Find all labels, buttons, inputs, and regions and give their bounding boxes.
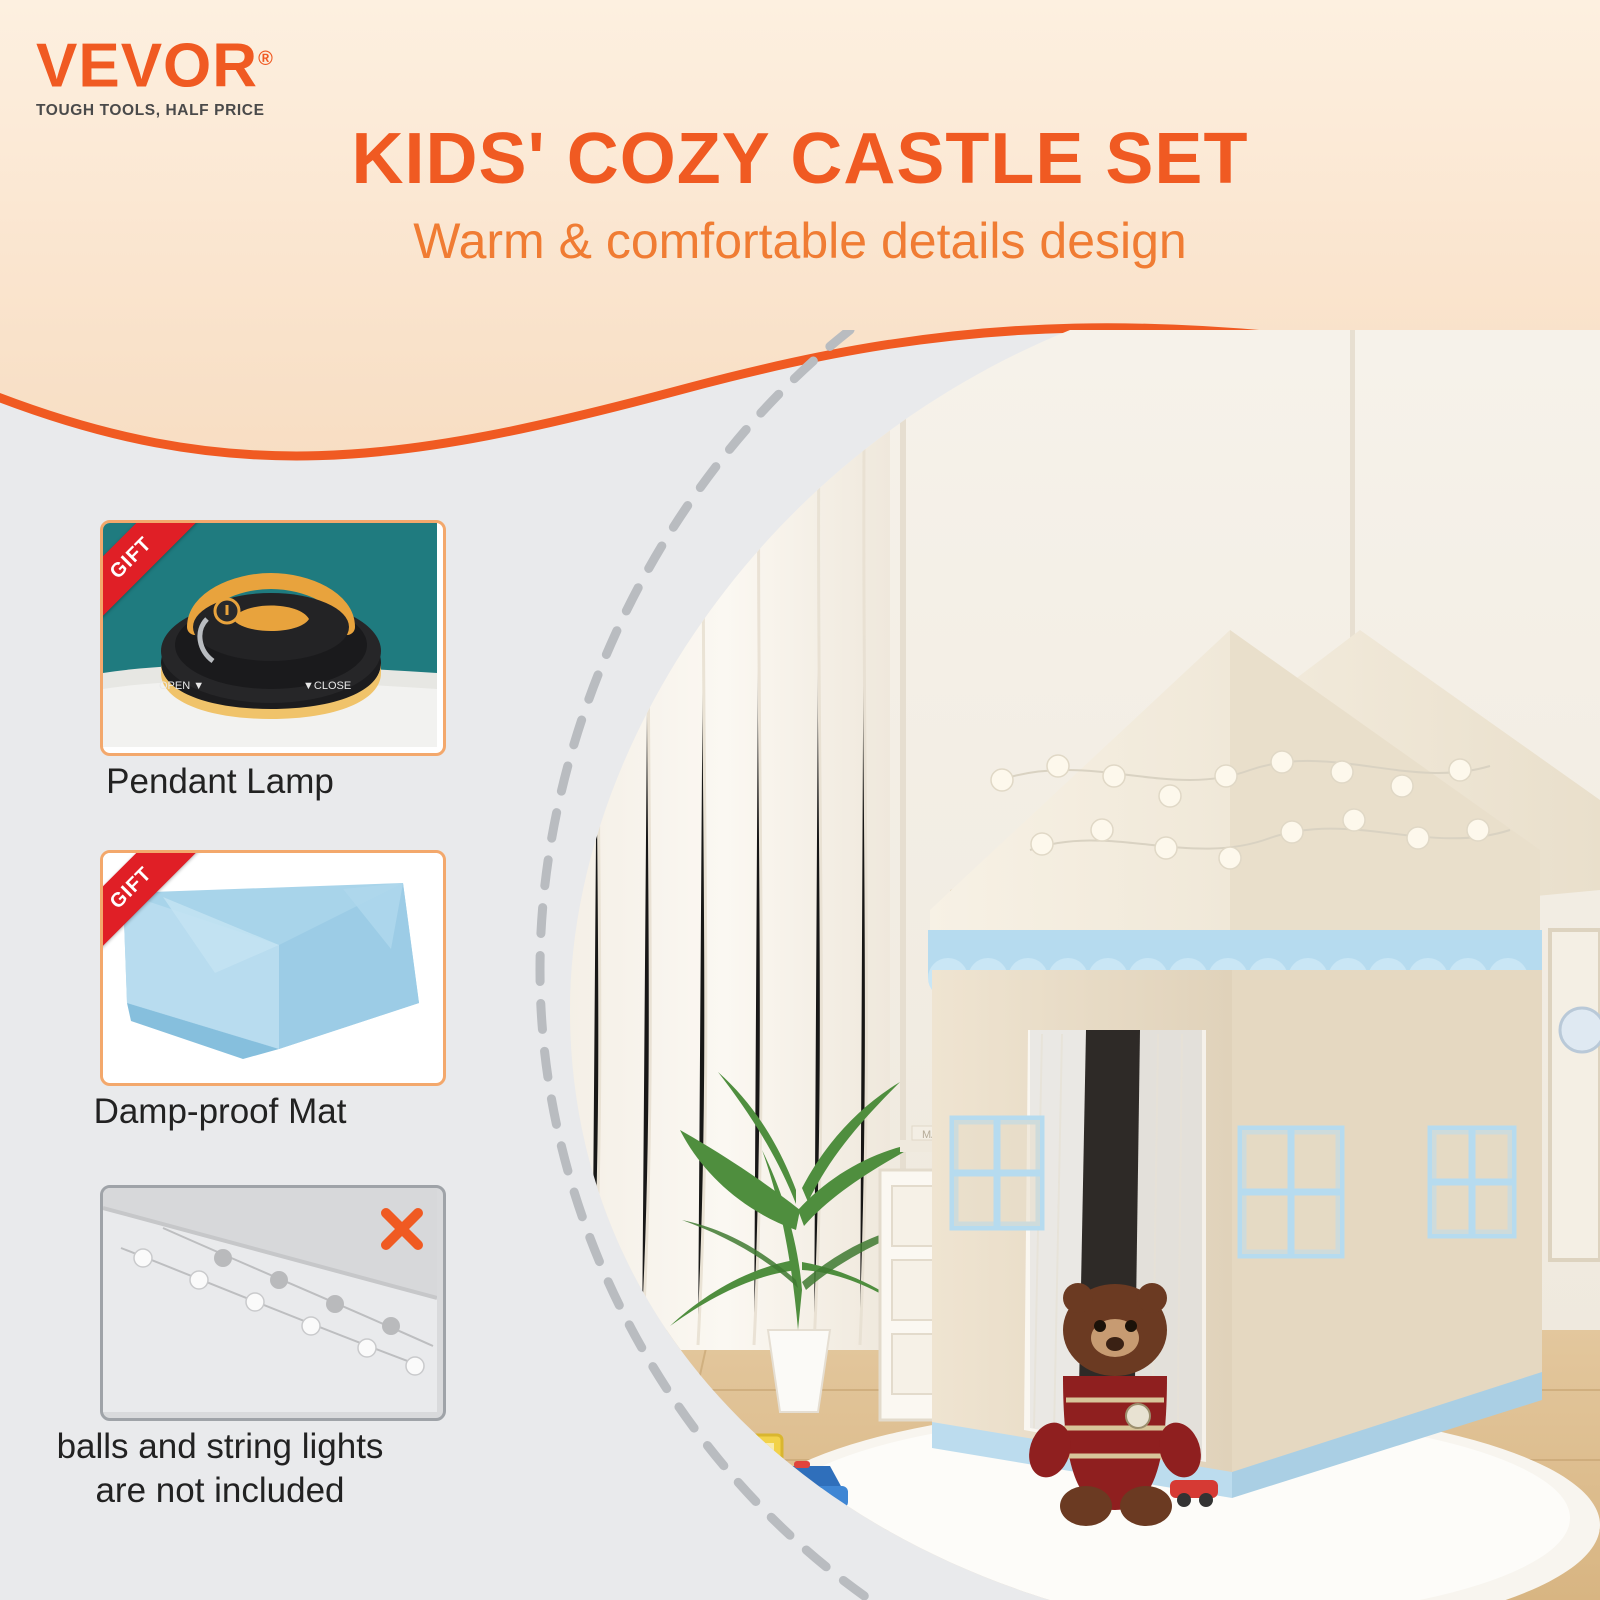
feature-card-damp-proof-mat: GIFT [100,850,446,1086]
feature-caption-2: Damp-proof Mat [0,1090,450,1134]
registered-mark: ® [258,48,274,70]
feature-caption-3-line2: are not included [95,1471,344,1510]
not-included-x-icon [379,1206,425,1252]
lamp-close-label: ▼CLOSE [303,680,351,692]
feature-card-string-lights [100,1185,446,1421]
feature-caption-1: Pendant Lamp [0,760,450,804]
vevor-logo: VEVOR® TOUGH TOOLS, HALF PRICE [36,28,326,120]
logo-text: VEVOR [36,32,258,101]
lamp-open-label: OPEN ▼ [159,680,204,692]
feature-card-pendant-lamp: OPEN ▼ ▼CLOSE GIFT [100,520,446,756]
feature-caption-3: balls and string lights are not included [0,1425,450,1513]
logo-tagline: TOUGH TOOLS, HALF PRICE [36,102,326,120]
page-subtitle: Warm & comfortable details design [0,212,1600,270]
page-title: KIDS' COZY CASTLE SET [0,118,1600,200]
dashed-divider-arc [500,330,920,1600]
logo-wordmark: VEVOR® [36,28,274,98]
feature-caption-3-line1: balls and string lights [57,1427,384,1466]
